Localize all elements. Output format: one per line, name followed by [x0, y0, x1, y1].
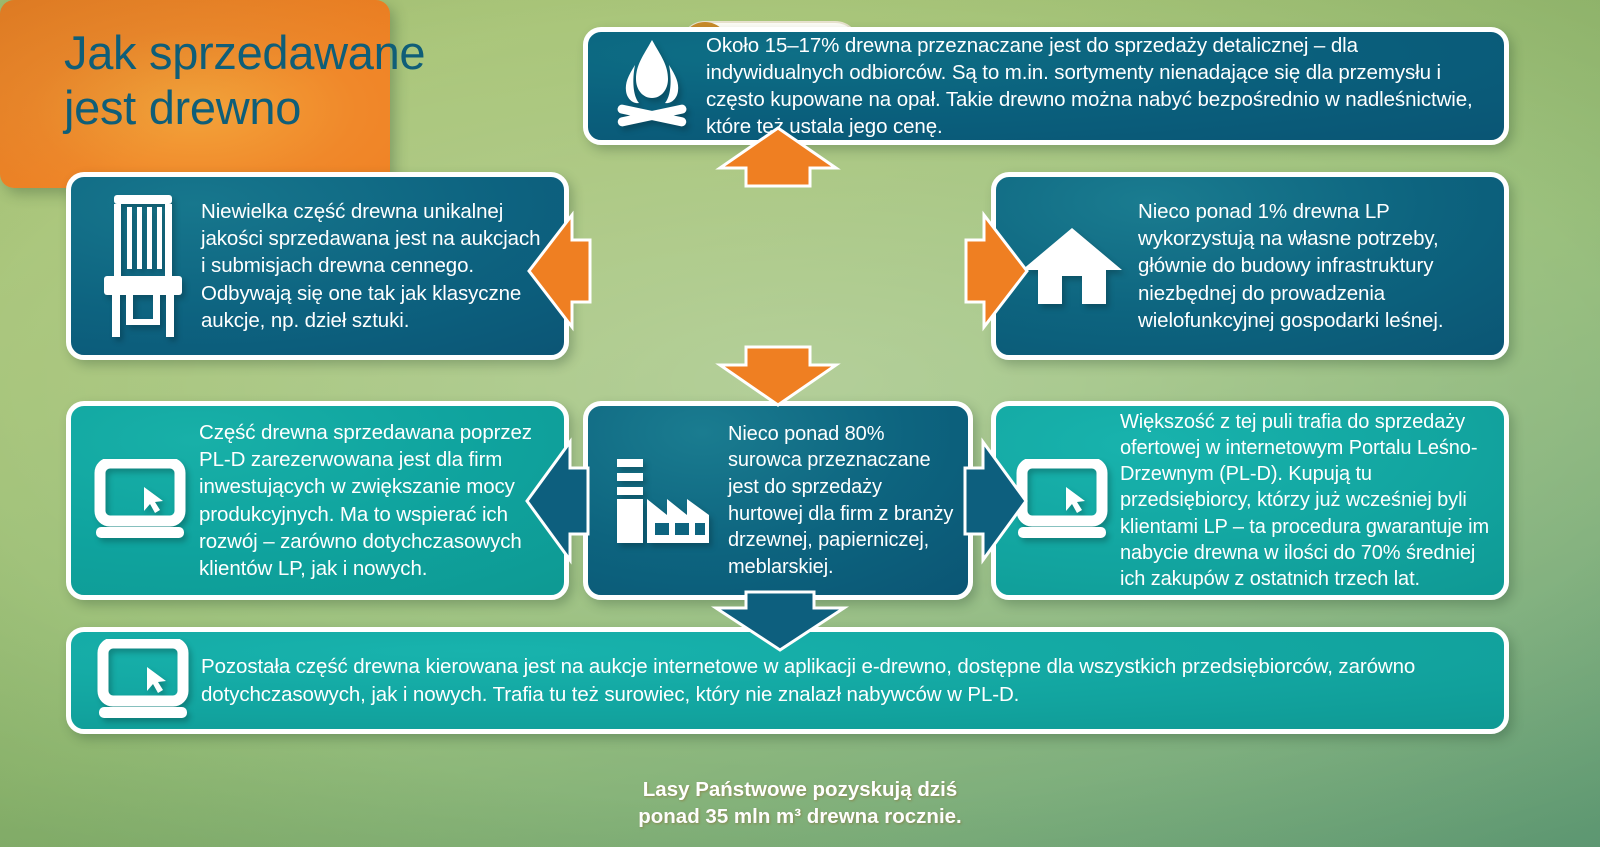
campfire-icon [606, 38, 698, 134]
house-icon [1014, 226, 1130, 306]
title-line-2: jest drewno [64, 81, 534, 136]
box-wholesale-text: Nieco ponad 80% surowca przeznaczane jes… [722, 421, 958, 581]
infographic-canvas: Jak sprzedawane jest drewno [0, 0, 1600, 847]
box-wholesale: Nieco ponad 80% surowca przeznaczane jes… [583, 401, 973, 600]
box-pld-text: Większość z tej puli trafia do sprzedaży… [1114, 409, 1494, 592]
arrow-up-to-retail [716, 126, 840, 188]
chair-icon [91, 193, 195, 339]
box-own-use-text: Nieco ponad 1% drewna LP wykorzystują na… [1130, 198, 1494, 334]
arrow-down-to-wholesale [716, 345, 840, 407]
laptop-cursor-icon [91, 639, 195, 723]
box-edrewno-text: Pozostała część drewna kierowana jest na… [195, 653, 1490, 708]
box-pld: Większość z tej puli trafia do sprzedaży… [991, 401, 1509, 600]
box-auction: Niewielka część drewna unikalnej jakości… [66, 172, 569, 360]
center-text-line-1: Lasy Państwowe pozyskują dziś [643, 778, 957, 801]
box-auction-text: Niewielka część drewna unikalnej jakości… [195, 198, 550, 334]
arrow-right-to-pld [963, 438, 1029, 564]
box-retail-text: Około 15–17% drewna przeznaczane jest do… [698, 32, 1490, 141]
page-title: Jak sprzedawane jest drewno [64, 26, 534, 136]
center-text-line-2: ponad 35 mln m³ drewna rocznie. [638, 805, 962, 828]
box-pld-reserved: Część drewna sprzedawana poprzez PL-D za… [66, 401, 569, 600]
arrow-right-to-own-use [964, 212, 1030, 330]
box-own-use: Nieco ponad 1% drewna LP wykorzystują na… [991, 172, 1509, 360]
arrow-left-to-pld-reserved [524, 438, 590, 564]
box-pld-reserved-text: Część drewna sprzedawana poprzez PL-D za… [193, 419, 552, 583]
factory-icon [604, 453, 722, 549]
center-box-text: Lasy Państwowe pozyskują dziś ponad 35 m… [0, 776, 1600, 830]
laptop-cursor-icon [87, 459, 193, 543]
arrow-left-to-auction [526, 212, 592, 330]
arrow-down-to-edrewno [710, 590, 850, 652]
title-line-1: Jak sprzedawane [64, 26, 534, 81]
